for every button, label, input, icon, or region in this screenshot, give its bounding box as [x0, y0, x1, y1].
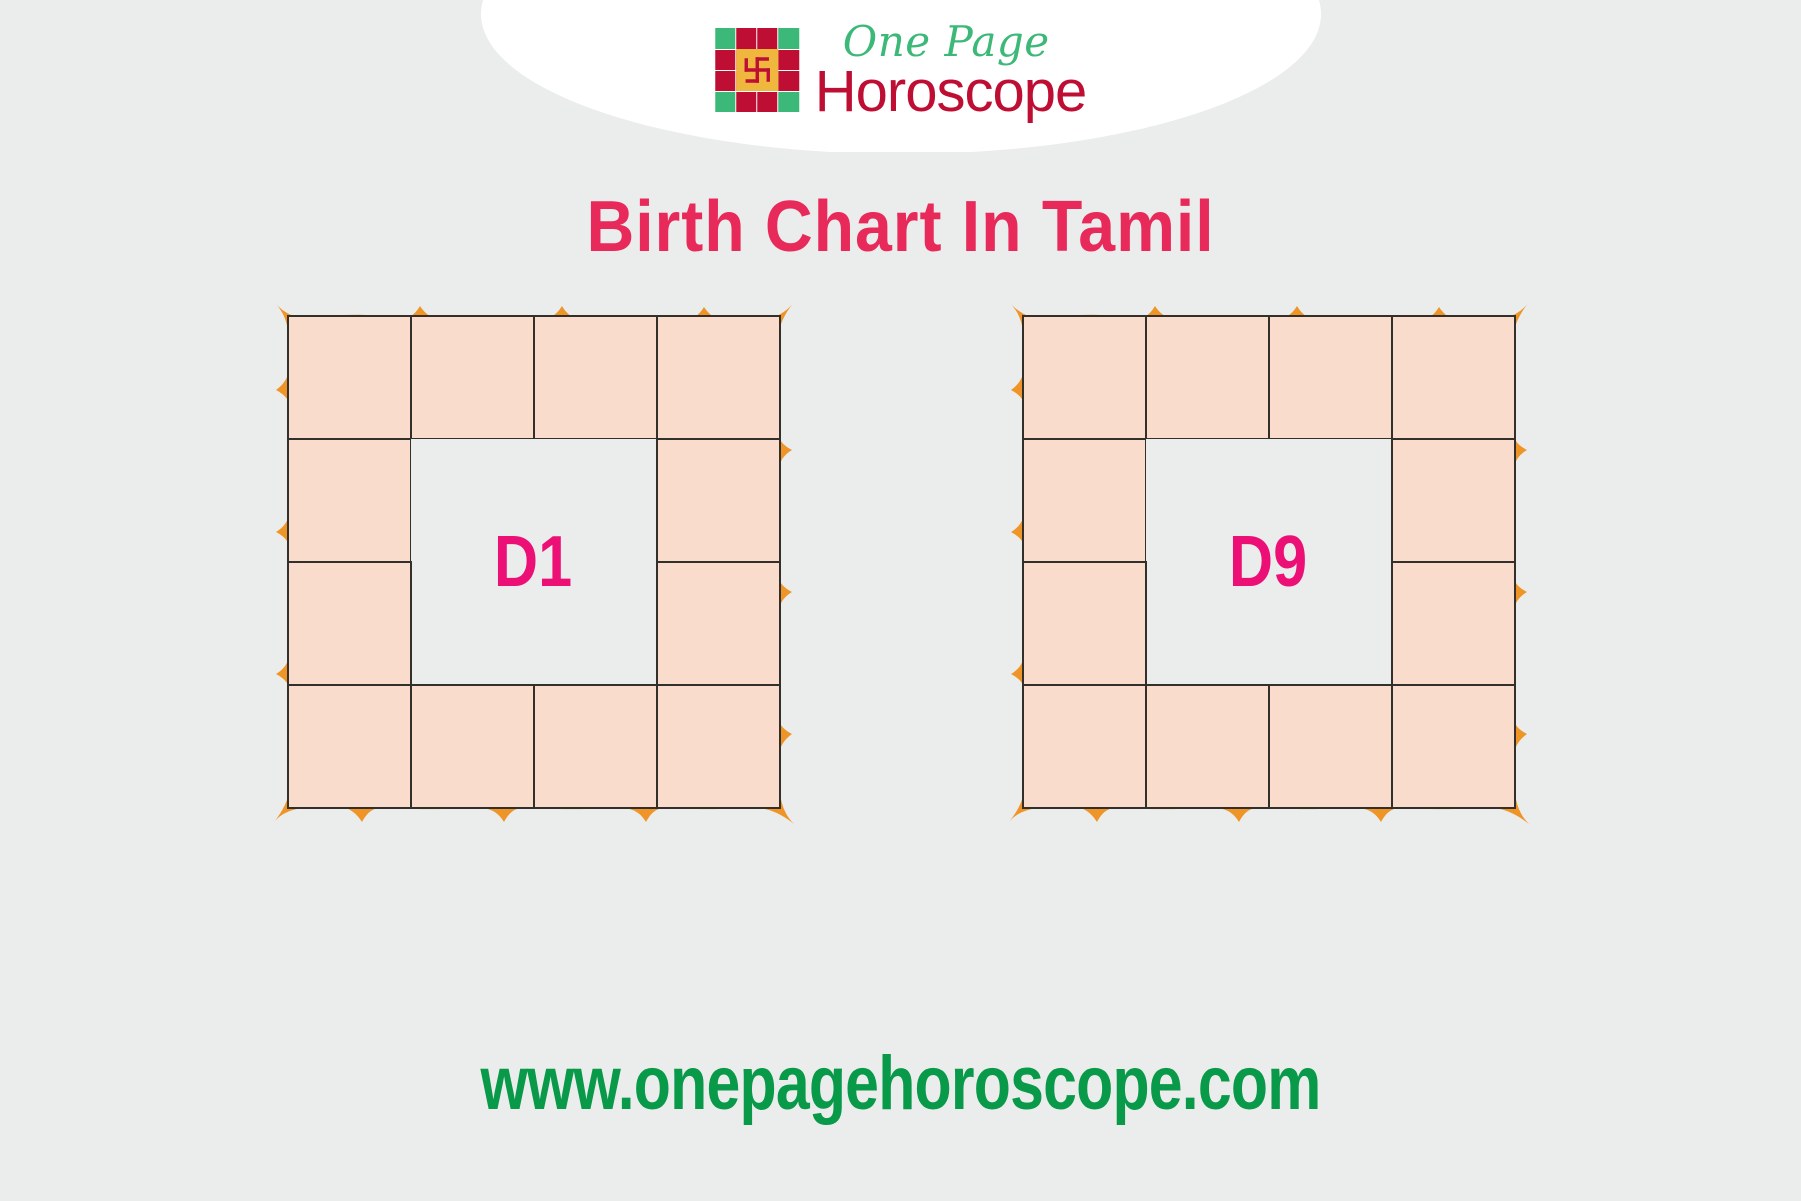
chart-label-d1: D1	[494, 526, 572, 598]
chart-cell[interactable]	[1022, 315, 1147, 440]
logo-tile	[779, 28, 799, 48]
logo-tile	[715, 71, 735, 91]
chart-cell[interactable]	[1022, 561, 1147, 686]
logo-tile	[779, 50, 799, 70]
chart-cell[interactable]	[287, 561, 412, 686]
chart-cell[interactable]	[656, 684, 781, 809]
chart-center-d1: D1	[411, 439, 657, 685]
logo-wordmark: One Page Horoscope	[815, 22, 1086, 119]
chart-cell[interactable]	[1022, 438, 1147, 563]
logo-line-one-page: One Page	[843, 22, 1086, 62]
chart-cell[interactable]	[410, 315, 535, 440]
site-logo[interactable]: One Page Horoscope	[715, 22, 1086, 119]
chart-d1[interactable]: D1	[266, 292, 801, 832]
chart-cell[interactable]	[287, 684, 412, 809]
chart-cell[interactable]	[287, 438, 412, 563]
chart-cell[interactable]	[287, 315, 412, 440]
chart-cell[interactable]	[1391, 561, 1516, 686]
footer-website-url[interactable]: www.onepagehoroscope.com	[180, 1040, 1621, 1127]
logo-tile	[736, 28, 756, 48]
chart-d9[interactable]: D9	[1001, 292, 1536, 832]
chart-cell[interactable]	[1145, 315, 1270, 440]
chart-grid-d9: D9	[1023, 316, 1515, 808]
chart-cell[interactable]	[1145, 684, 1270, 809]
logo-line-horoscope: Horoscope	[815, 64, 1086, 119]
logo-tile	[757, 28, 777, 48]
logo-tile	[757, 92, 777, 112]
chart-cell[interactable]	[1268, 684, 1393, 809]
chart-cell[interactable]	[1391, 315, 1516, 440]
chart-cell[interactable]	[1022, 684, 1147, 809]
chart-center-d9: D9	[1146, 439, 1392, 685]
chart-label-d9: D9	[1229, 526, 1307, 598]
chart-cell[interactable]	[656, 315, 781, 440]
page-title: Birth Chart In Tamil	[72, 186, 1729, 268]
chart-cell[interactable]	[656, 438, 781, 563]
logo-tile	[779, 71, 799, 91]
chart-cell[interactable]	[656, 561, 781, 686]
swastika-grid-logo-icon	[715, 28, 799, 112]
logo-tile	[736, 92, 756, 112]
swastika-icon	[736, 49, 778, 91]
header-band: One Page Horoscope	[0, 0, 1801, 152]
chart-cell[interactable]	[410, 684, 535, 809]
chart-cell[interactable]	[1268, 315, 1393, 440]
chart-cell[interactable]	[533, 315, 658, 440]
chart-cell[interactable]	[1391, 684, 1516, 809]
logo-tile	[715, 50, 735, 70]
logo-tile	[715, 28, 735, 48]
chart-grid-d1: D1	[288, 316, 780, 808]
chart-cell[interactable]	[533, 684, 658, 809]
chart-cell[interactable]	[1391, 438, 1516, 563]
logo-tile	[715, 92, 735, 112]
logo-tile	[779, 92, 799, 112]
charts-container: D1 D9	[0, 292, 1801, 852]
